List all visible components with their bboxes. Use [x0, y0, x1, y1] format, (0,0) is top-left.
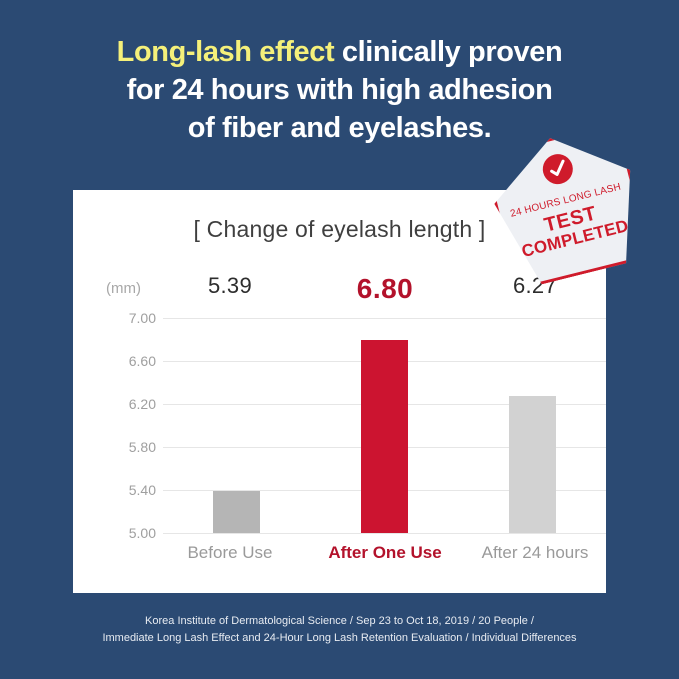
value-label-after-one-use: 6.80 [325, 273, 445, 305]
chart-plot-area: 7.006.606.205.805.405.00 [163, 318, 606, 533]
gridline [163, 318, 606, 319]
y-axis-tick-label: 7.00 [90, 310, 156, 326]
y-axis-tick-label: 5.40 [90, 482, 156, 498]
category-label-after-24-hours: After 24 hours [460, 543, 610, 563]
y-axis-tick-label: 6.20 [90, 396, 156, 412]
footnote-line-2: Immediate Long Lash Effect and 24-Hour L… [0, 630, 679, 647]
bar-after-24-hours [509, 396, 556, 533]
category-label-row: Before Use After One Use After 24 hours [163, 543, 606, 569]
footnote-line-1: Korea Institute of Dermatological Scienc… [0, 613, 679, 630]
headline-line-1-rest: clinically proven [334, 36, 562, 68]
headline: Long-lash effect clinically proven for 2… [0, 33, 679, 147]
bar-after-one-use [361, 340, 408, 534]
y-axis-tick-label: 6.60 [90, 353, 156, 369]
bar-before-use [213, 491, 260, 533]
category-label-after-one-use: After One Use [310, 543, 460, 563]
headline-highlight: Long-lash effect [117, 36, 335, 68]
headline-line-2: for 24 hours with high adhesion [0, 71, 679, 109]
category-label-before-use: Before Use [155, 543, 305, 563]
footnote: Korea Institute of Dermatological Scienc… [0, 613, 679, 647]
y-axis-tick-label: 5.00 [90, 525, 156, 541]
gridline [163, 533, 606, 534]
headline-line-1: Long-lash effect clinically proven [0, 33, 679, 71]
y-axis-tick-label: 5.80 [90, 439, 156, 455]
y-axis-unit-label: (mm) [106, 280, 141, 297]
value-label-before-use: 5.39 [170, 273, 290, 299]
